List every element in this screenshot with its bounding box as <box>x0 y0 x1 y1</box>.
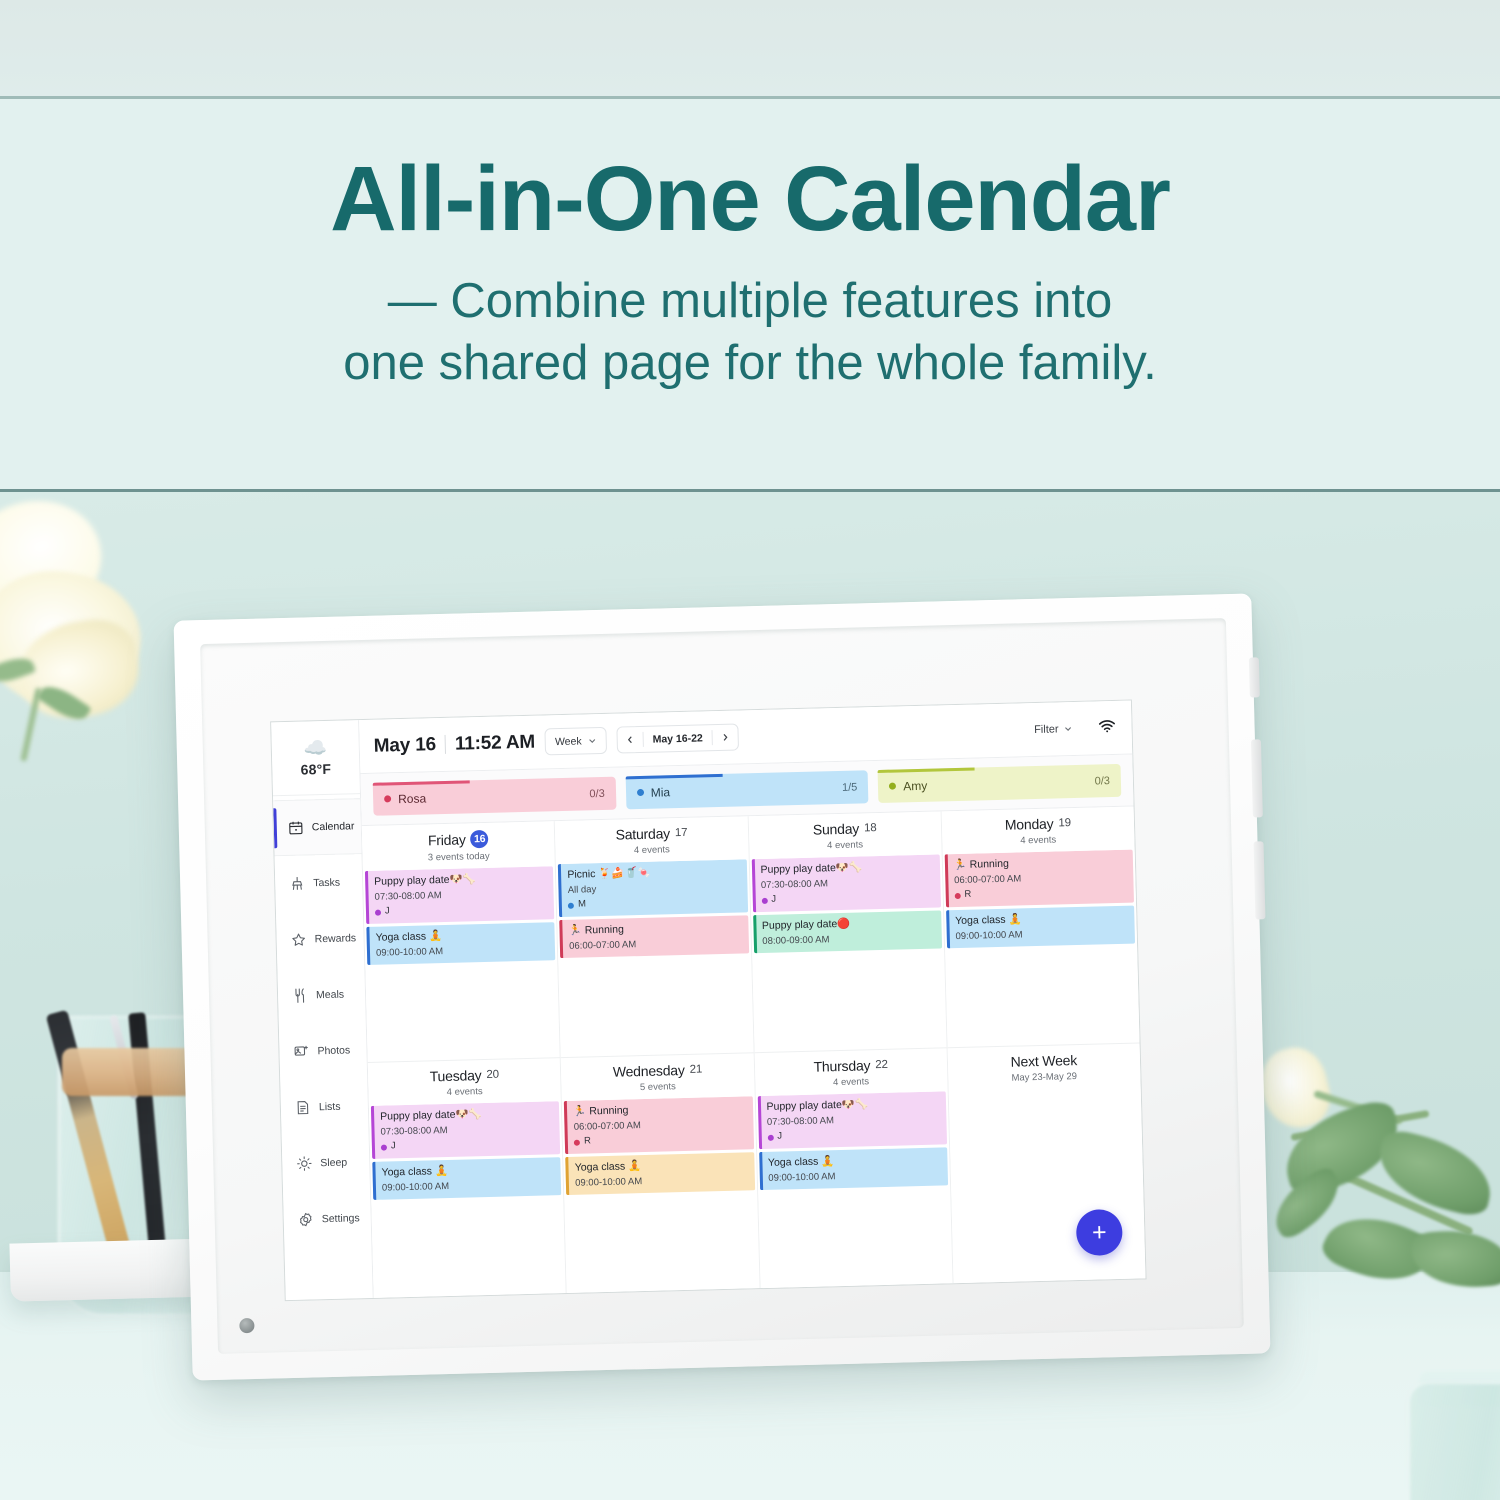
member-accent-bar <box>878 768 975 773</box>
day-number: 17 <box>675 827 688 839</box>
day-event-count: 3 events today <box>363 849 555 865</box>
sidebar: ☁️ 68°F Calendar <box>271 720 374 1300</box>
event-card[interactable]: Yoga class 🧘 09:00-10:00 AM <box>366 922 555 965</box>
calendar-week-row: Friday 16 3 events today Puppy play date… <box>362 807 1140 1062</box>
filter-label: Filter <box>1034 723 1059 736</box>
event-time: 09:00-10:00 AM <box>382 1178 556 1195</box>
member-task-count: 1/5 <box>842 781 858 793</box>
promo-banner: All-in-One Calendar — Combine multiple f… <box>0 0 1500 492</box>
sidebar-label: Meals <box>316 989 344 1002</box>
day-title: Thursday 22 <box>754 1055 947 1076</box>
next-week-range: May 23-May 29 <box>948 1069 1140 1085</box>
calendar-icon <box>288 820 304 836</box>
sidebar-label: Settings <box>322 1212 360 1225</box>
event-assignee: J <box>375 902 549 919</box>
event-title: Yoga class 🧘 <box>768 1152 942 1170</box>
banner-text-block: All-in-One Calendar — Combine multiple f… <box>0 99 1500 489</box>
day-events: Puppy play date🐶🦴 07:30-08:00 AM J <box>755 1091 952 1288</box>
sidebar-item-lists[interactable]: Lists <box>280 1078 368 1136</box>
day-number-today: 16 <box>470 830 488 848</box>
sidebar-item-calendar[interactable]: Calendar <box>273 798 361 856</box>
member-color-dot <box>889 783 896 790</box>
sidebar-label: Lists <box>319 1101 341 1114</box>
event-title: Puppy play date🐶🦴 <box>760 860 934 878</box>
current-time: 11:52 AM <box>455 731 536 755</box>
event-card[interactable]: Puppy play date🐶🦴 07:30-08:00 AM J <box>751 854 941 912</box>
gear-icon <box>298 1211 314 1227</box>
week-navigator: May 16-22 <box>616 723 739 753</box>
star-icon <box>290 931 306 947</box>
day-column-monday[interactable]: Monday 19 4 events 🏃 Running 06:00-07:00… <box>941 807 1139 1048</box>
chevron-left-icon[interactable] <box>617 727 643 753</box>
day-column-next-week[interactable]: Next Week May 23-May 29 + <box>947 1042 1145 1283</box>
event-title: 🏃 Running <box>954 855 1128 873</box>
day-name: Sunday <box>813 820 860 837</box>
day-header: Wednesday 21 5 events <box>561 1053 754 1101</box>
wifi-icon[interactable] <box>1098 719 1115 736</box>
smart-calendar-tablet: ☁️ 68°F Calendar <box>174 593 1271 1380</box>
assignee-color-dot <box>375 909 381 915</box>
assignee-color-dot <box>954 893 960 899</box>
day-event-count: 4 events <box>556 842 748 858</box>
assignee-initial: R <box>964 889 971 902</box>
assignee-initial: J <box>385 906 390 919</box>
product-photo-scene: ☁️ 68°F Calendar <box>0 492 1500 1500</box>
day-number: 21 <box>690 1064 703 1076</box>
event-assignee: R <box>574 1132 748 1149</box>
day-title: Saturday 17 <box>555 823 748 844</box>
event-card[interactable]: Yoga class 🧘 09:00-10:00 AM <box>759 1147 948 1190</box>
power-button[interactable] <box>1249 657 1260 697</box>
event-time: 09:00-10:00 AM <box>575 1173 749 1190</box>
day-title: Wednesday 21 <box>561 1060 754 1081</box>
member-color-dot <box>637 789 644 796</box>
event-card[interactable]: Yoga class 🧘 09:00-10:00 AM <box>372 1157 561 1200</box>
chevron-down-icon <box>1063 724 1072 733</box>
subtitle-line-2: one shared page for the whole family. <box>343 332 1157 395</box>
event-card[interactable]: Puppy play date🔴 08:00-09:00 AM <box>753 910 942 953</box>
event-card[interactable]: Yoga class 🧘 09:00-10:00 AM <box>566 1152 755 1195</box>
event-card[interactable]: 🏃 Running 06:00-07:00 AM <box>560 915 749 958</box>
day-event-count: 5 events <box>562 1079 754 1095</box>
current-datetime: May 16 11:52 AM <box>374 731 536 757</box>
assignee-color-dot <box>761 897 767 903</box>
broom-icon <box>289 876 305 892</box>
sidebar-label: Rewards <box>315 932 357 945</box>
week-range-label: May 16-22 <box>643 732 711 746</box>
cloud-icon: ☁️ <box>303 738 327 758</box>
member-chip-mia[interactable]: Mia 1/5 <box>625 770 868 809</box>
day-number: 22 <box>875 1059 888 1071</box>
sun-icon <box>296 1155 312 1171</box>
event-time: 09:00-10:00 AM <box>768 1168 942 1185</box>
page-title: All-in-One Calendar <box>330 151 1170 248</box>
member-chip-amy[interactable]: Amy 0/3 <box>878 764 1121 803</box>
day-header: Saturday 17 4 events <box>555 816 748 864</box>
day-title: Friday 16 <box>362 828 555 851</box>
sidebar-label: Photos <box>317 1044 350 1057</box>
day-number: 18 <box>864 822 877 834</box>
volume-down-button[interactable] <box>1253 841 1265 919</box>
day-title: Sunday 18 <box>748 818 941 839</box>
day-events: 🏃 Running 06:00-07:00 AM R Yoga cl <box>942 850 1139 1048</box>
assignee-initial: M <box>578 899 586 912</box>
page-subtitle: — Combine multiple features into one sha… <box>343 270 1157 395</box>
chevron-down-icon <box>588 736 597 745</box>
next-week-header: Next Week May 23-May 29 <box>947 1043 1140 1091</box>
day-event-count: 4 events <box>749 837 941 853</box>
day-event-count: 4 events <box>755 1074 947 1090</box>
sidebar-nav: Calendar Tasks <box>273 794 373 1300</box>
member-accent-bar <box>625 774 722 779</box>
chevron-right-icon[interactable] <box>712 725 738 751</box>
event-card[interactable]: 🏃 Running 06:00-07:00 AM R <box>944 850 1134 908</box>
view-selector-label: Week <box>555 735 582 748</box>
day-column-saturday[interactable]: Saturday 17 4 events Picnic 🍹🍰🥤🍬 All day <box>555 816 754 1057</box>
member-task-count: 0/3 <box>589 787 605 799</box>
day-name: Monday <box>1005 816 1054 833</box>
day-events: 🏃 Running 06:00-07:00 AM R Yoga cl <box>562 1096 759 1293</box>
day-number: 19 <box>1058 817 1071 829</box>
view-selector[interactable]: Week <box>545 727 607 756</box>
member-chip-rosa[interactable]: Rosa 0/3 <box>373 777 616 816</box>
filter-button[interactable]: Filter <box>1034 723 1073 736</box>
event-assignee: J <box>761 890 935 907</box>
event-assignee: J <box>381 1137 555 1154</box>
add-event-button[interactable]: + <box>1076 1209 1123 1256</box>
day-events: Puppy play date🐶🦴 07:30-08:00 AM J <box>363 866 560 1062</box>
day-column-sunday[interactable]: Sunday 18 4 events Puppy play date🐶🦴 07:… <box>748 811 947 1052</box>
tablet-screen: ☁️ 68°F Calendar <box>271 701 1145 1301</box>
fork-knife-icon <box>292 987 308 1003</box>
sidebar-item-rewards[interactable]: Rewards <box>276 910 364 968</box>
event-title: Picnic 🍹🍰🥤🍬 <box>567 864 741 882</box>
day-header: Thursday 22 4 events <box>754 1048 947 1096</box>
event-title: Yoga class 🧘 <box>575 1157 749 1175</box>
member-accent-bar <box>373 780 470 785</box>
day-event-count: 4 events <box>942 833 1134 849</box>
main-area: May 16 11:52 AM Week <box>359 701 1145 1298</box>
day-name: Saturday <box>615 825 670 842</box>
day-title: Tuesday 20 <box>368 1065 561 1086</box>
subtitle-line-1: — Combine multiple features into <box>343 270 1157 333</box>
member-color-dot <box>384 795 391 802</box>
day-name: Wednesday <box>613 1062 685 1080</box>
day-events: Puppy play date🐶🦴 07:30-08:00 AM J <box>749 854 946 1052</box>
event-time: 08:00-09:00 AM <box>762 931 936 948</box>
day-name: Tuesday <box>429 1067 481 1084</box>
event-card[interactable]: Picnic 🍹🍰🥤🍬 All day M <box>558 859 748 917</box>
event-card[interactable]: Yoga class 🧘 09:00-10:00 AM <box>946 905 1135 948</box>
day-events: Picnic 🍹🍰🥤🍬 All day M 🏃 Runnin <box>556 859 753 1057</box>
calendar-week-row: Tuesday 20 4 events Puppy play date🐶🦴 07… <box>368 1042 1146 1297</box>
event-card[interactable]: 🏃 Running 06:00-07:00 AM R <box>564 1096 754 1154</box>
photo-plus-icon <box>293 1043 309 1059</box>
day-name: Friday <box>428 831 466 848</box>
assignee-color-dot <box>767 1134 773 1140</box>
event-assignee: R <box>954 885 1128 902</box>
sidebar-label: Tasks <box>313 877 340 890</box>
day-name: Thursday <box>813 1057 870 1074</box>
sidebar-label: Sleep <box>320 1157 347 1170</box>
event-card[interactable]: Puppy play date🐶🦴 07:30-08:00 AM J <box>757 1091 947 1149</box>
assignee-initial: J <box>777 1131 782 1144</box>
day-title: Monday 19 <box>942 814 1135 835</box>
member-task-count: 0/3 <box>1094 775 1110 787</box>
sidebar-label: Calendar <box>312 820 355 833</box>
assignee-initial: R <box>584 1136 591 1149</box>
day-header: Sunday 18 4 events <box>748 811 941 859</box>
current-date: May 16 <box>374 734 437 758</box>
day-header: Monday 19 4 events <box>941 807 1134 855</box>
glass-vase <box>1408 1382 1500 1500</box>
member-name: Mia <box>651 785 671 799</box>
next-week-body: + <box>948 1086 1145 1283</box>
day-column-thursday[interactable]: Thursday 22 4 events Puppy play date🐶🦴 0… <box>754 1047 953 1288</box>
event-assignee: M <box>568 895 742 912</box>
sidebar-item-settings[interactable]: Settings <box>283 1190 371 1248</box>
toolbar-spacer <box>749 730 1024 737</box>
sidebar-item-photos[interactable]: Photos <box>279 1022 367 1080</box>
event-assignee: J <box>767 1127 941 1144</box>
member-name: Amy <box>903 778 927 793</box>
assignee-color-dot <box>568 902 574 908</box>
list-document-icon <box>295 1099 311 1115</box>
assignee-color-dot <box>381 1144 387 1150</box>
day-header: Friday 16 3 events today <box>362 821 555 871</box>
sidebar-item-tasks[interactable]: Tasks <box>275 854 363 912</box>
weather-widget[interactable]: ☁️ 68°F <box>271 720 360 796</box>
day-column-tuesday[interactable]: Tuesday 20 4 events Puppy play date🐶🦴 07… <box>368 1057 567 1298</box>
event-card[interactable]: Puppy play date🐶🦴 07:30-08:00 AM J <box>371 1101 561 1159</box>
event-time: 06:00-07:00 AM <box>569 936 743 953</box>
day-event-count: 4 events <box>368 1084 560 1100</box>
volume-up-button[interactable] <box>1251 739 1263 817</box>
sidebar-item-sleep[interactable]: Sleep <box>282 1134 370 1192</box>
next-week-title: Next Week <box>948 1050 1141 1071</box>
day-events: Puppy play date🐶🦴 07:30-08:00 AM J <box>369 1101 566 1298</box>
event-card[interactable]: Puppy play date🐶🦴 07:30-08:00 AM J <box>365 866 555 924</box>
calendar-app: ☁️ 68°F Calendar <box>271 701 1145 1301</box>
weather-temperature: 68°F <box>300 760 331 777</box>
day-number: 20 <box>486 1069 499 1081</box>
event-time: 09:00-10:00 AM <box>955 926 1129 943</box>
day-header: Tuesday 20 4 events <box>368 1058 561 1106</box>
member-name: Rosa <box>398 791 426 806</box>
datetime-separator <box>445 735 446 754</box>
day-column-friday[interactable]: Friday 16 3 events today Puppy play date… <box>362 821 561 1062</box>
day-column-wednesday[interactable]: Wednesday 21 5 events 🏃 Running 06:00-07… <box>561 1052 760 1293</box>
sidebar-item-meals[interactable]: Meals <box>277 966 365 1024</box>
assignee-color-dot <box>574 1139 580 1145</box>
event-time: 09:00-10:00 AM <box>376 943 550 960</box>
assignee-initial: J <box>771 894 776 907</box>
assignee-initial: J <box>391 1141 396 1154</box>
event-title: Puppy play date🐶🦴 <box>380 1106 554 1124</box>
banner-top-strip <box>0 0 1500 96</box>
calendar-grid: Friday 16 3 events today Puppy play date… <box>362 807 1146 1298</box>
